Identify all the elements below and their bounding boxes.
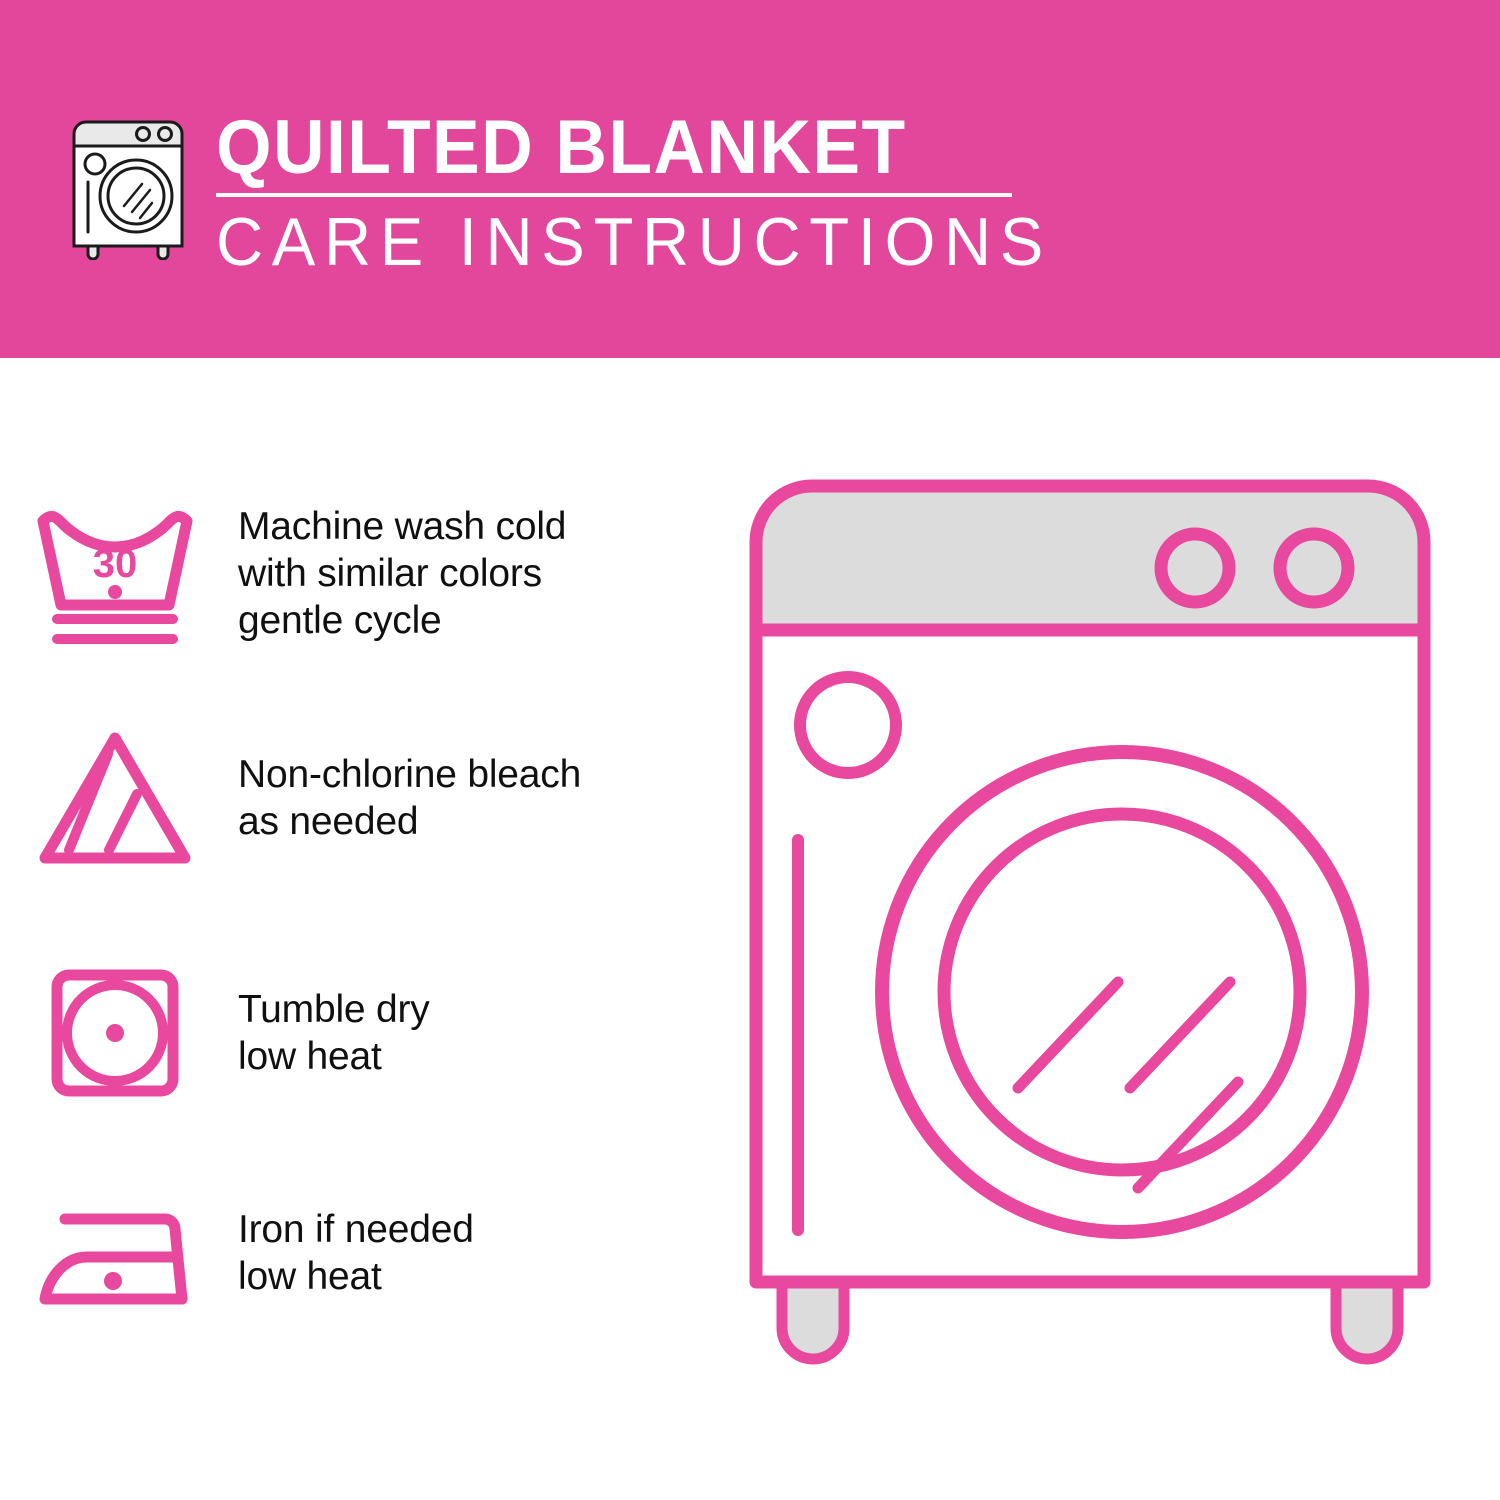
care-text-tumble-dry: Tumble dry low heat [230, 986, 430, 1080]
care-text-line: gentle cycle [238, 597, 566, 644]
care-instruction-list: 30 Machine wash cold with similar colors… [0, 358, 740, 1500]
care-row-iron: Iron if needed low heat [0, 1148, 740, 1358]
care-text-line: low heat [238, 1253, 474, 1300]
care-text-bleach: Non-chlorine bleach as needed [230, 751, 581, 845]
title-divider [216, 193, 1012, 197]
leg-right [1336, 1280, 1398, 1359]
non-chlorine-bleach-triangle-icon [0, 703, 230, 893]
care-row-wash: 30 Machine wash cold with similar colors… [0, 468, 740, 678]
care-text-iron: Iron if needed low heat [230, 1206, 474, 1300]
washing-machine-logo-icon [64, 108, 192, 260]
header-banner: QUILTED BLANKET CARE INSTRUCTIONS [0, 0, 1500, 358]
knob-right [1280, 534, 1348, 602]
detergent-dispenser-circle [800, 677, 896, 773]
care-text-line: Non-chlorine bleach [238, 751, 581, 798]
door-inner-ring [944, 814, 1300, 1170]
tumble-dry-low-icon [0, 938, 230, 1128]
wash-temperature-value: 30 [93, 542, 138, 586]
header-title-group: QUILTED BLANKET CARE INSTRUCTIONS [216, 106, 1216, 280]
care-text-wash: Machine wash cold with similar colors ge… [230, 503, 566, 644]
leg-left [782, 1280, 844, 1359]
care-text-line: Tumble dry [238, 986, 430, 1033]
care-row-tumble-dry: Tumble dry low heat [0, 928, 740, 1138]
care-text-line: Iron if needed [238, 1206, 474, 1253]
page-subtitle: CARE INSTRUCTIONS [216, 204, 1176, 280]
wash-tub-30-icon: 30 [0, 478, 230, 668]
care-text-line: as needed [238, 798, 581, 845]
care-text-line: Machine wash cold [238, 503, 566, 550]
iron-low-heat-icon [0, 1158, 230, 1348]
care-row-bleach: Non-chlorine bleach as needed [0, 693, 740, 903]
front-load-washing-machine-illustration [740, 470, 1480, 1430]
care-text-line: low heat [238, 1033, 430, 1080]
knob-left [1161, 534, 1229, 602]
page-title: QUILTED BLANKET [216, 106, 1156, 190]
care-text-line: with similar colors [238, 550, 566, 597]
